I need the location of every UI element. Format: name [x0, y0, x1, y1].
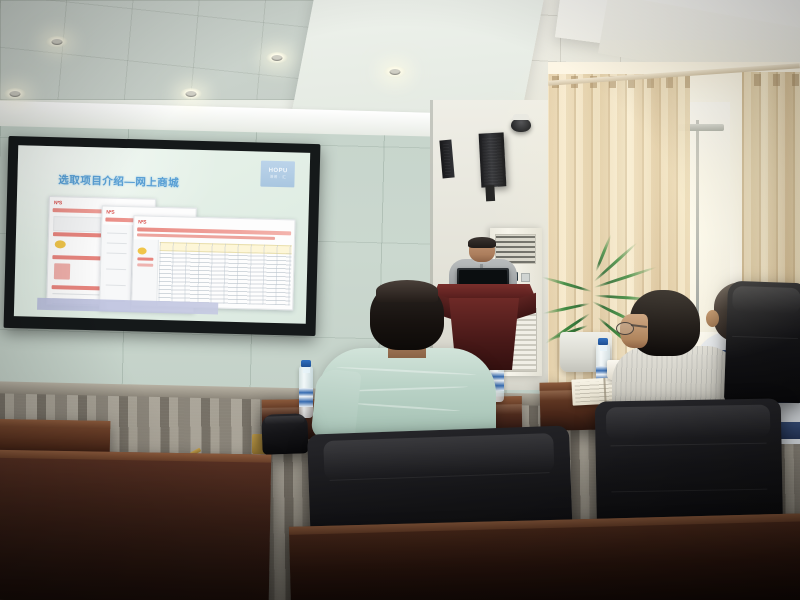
projection-screen[interactable]: 选取项目介绍—网上商城 HOPU 浩普 · 汇 N*S [4, 136, 321, 336]
chair-seam [610, 442, 766, 446]
ceiling-grid-left [0, 0, 330, 100]
mock-site-logo: N*S [106, 210, 114, 216]
mock-thumb [55, 240, 66, 248]
downlight-ring-icon [390, 69, 401, 75]
chair-right-empty[interactable] [724, 281, 800, 404]
wall-speaker [479, 132, 507, 187]
dome-camera-icon [511, 118, 531, 132]
speaker-grill [482, 136, 503, 185]
bottle-cap [598, 338, 608, 345]
chair-seam [732, 336, 798, 339]
bottle-neck [600, 344, 607, 351]
ac-power-button[interactable] [521, 273, 530, 282]
downlight-ring-icon [10, 91, 21, 97]
chair-seam [611, 489, 767, 493]
mock-block [53, 216, 101, 232]
slide-title: 选取项目介绍—网上商城 [58, 172, 179, 190]
chair-highlight [264, 415, 305, 425]
speaker-mount-bracket [485, 185, 495, 201]
palm-frond [542, 276, 593, 293]
mock-side-item [137, 257, 153, 260]
downlight-2 [180, 88, 202, 100]
downlight-3 [266, 52, 288, 64]
shirt-fold [348, 402, 460, 412]
downlight-4 [384, 66, 406, 78]
downlight-5 [4, 88, 26, 100]
mock-thumb [54, 263, 70, 279]
chair-highlight [606, 404, 770, 439]
slide-logo-main: HOPU [269, 167, 288, 173]
mock-sidebar [100, 225, 133, 310]
ledge-surface [0, 419, 110, 429]
mock-text-line [53, 293, 103, 295]
mock-table-columns [158, 242, 292, 305]
curtain-hooks [742, 74, 800, 86]
attendee-arm [310, 368, 361, 442]
shirt-fold [342, 386, 468, 392]
conference-room-photo: 选取项目介绍—网上商城 HOPU 浩普 · 汇 N*S [0, 0, 800, 600]
mock-side-item [137, 263, 153, 266]
mock-thumb [137, 247, 146, 254]
mock-site-logo: N*S [138, 219, 146, 225]
chair-highlight [732, 286, 800, 315]
bottle-label [299, 388, 313, 407]
desk-foreground-front [289, 513, 800, 600]
slide-logo: HOPU 浩普 · 汇 [261, 160, 296, 187]
downlight-ring-icon [186, 91, 197, 97]
desk-foreground-left [0, 449, 271, 600]
slide-mock-window-3: N*S [131, 215, 296, 310]
chair-far-left[interactable] [261, 413, 308, 455]
downlight-1 [46, 36, 68, 48]
presenter-hair [468, 237, 496, 248]
water-bottle-1[interactable] [299, 366, 313, 418]
downlight-ring-icon [52, 39, 63, 45]
camera-mount-base [513, 114, 529, 120]
bottle-cap [301, 360, 311, 367]
ceiling-tile-panel-left [0, 0, 330, 100]
projected-slide: 选取项目介绍—网上商城 HOPU 浩普 · 汇 N*S [14, 145, 310, 324]
mock-site-logo: N*S [54, 200, 62, 206]
attendee-hair [376, 280, 438, 302]
slide-logo-sub: 浩普 · 汇 [270, 174, 287, 179]
downlight-ring-icon [272, 55, 283, 61]
palm-frond [543, 302, 591, 315]
palm-frond [594, 266, 658, 289]
speaker-grill [443, 143, 452, 175]
bottle-neck [303, 366, 310, 373]
attendee-mint-shirt [318, 282, 496, 447]
